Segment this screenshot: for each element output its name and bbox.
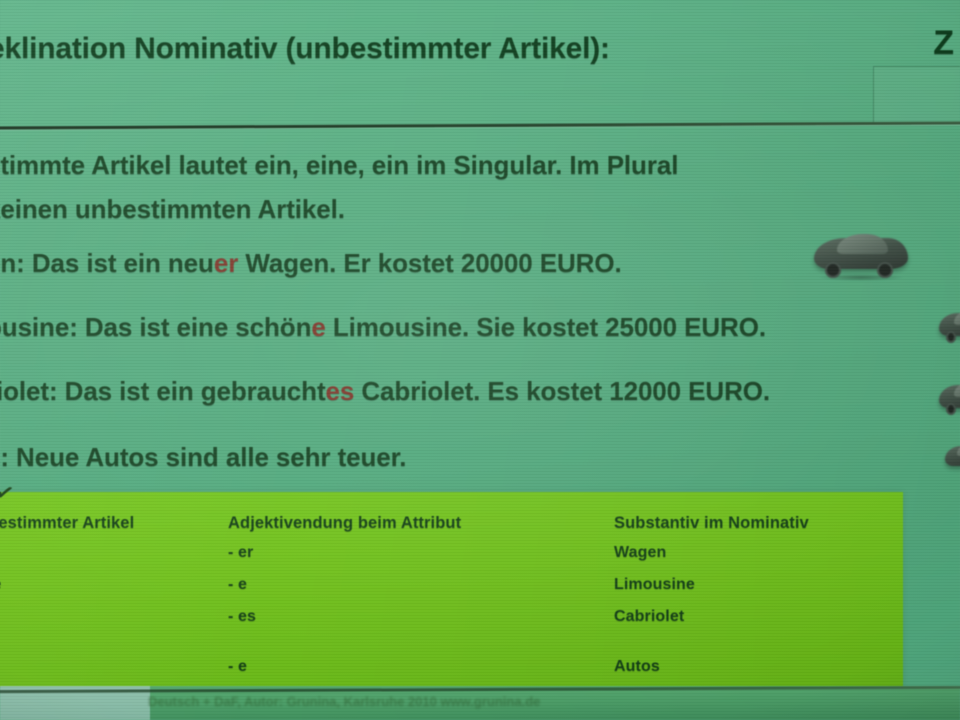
corner-letter-mark: Z bbox=[933, 24, 954, 63]
body-line-5-pre: riolet: Das ist ein gebraucht bbox=[0, 376, 326, 406]
body-line-6: s: Neue Autos sind alle sehr teuer. bbox=[0, 442, 406, 473]
body-line-3-post: Wagen. Er kostet 20000 EURO. bbox=[238, 248, 621, 278]
table-header-article: nbestimmter Artikel bbox=[0, 514, 134, 533]
body-line-1: stimmte Artikel lautet ein, eine, ein im… bbox=[0, 150, 678, 181]
body-line-5-post: Cabriolet. Es kostet 12000 EURO. bbox=[354, 376, 770, 406]
car-photo-limousine bbox=[938, 306, 960, 346]
car-wheel-rear bbox=[877, 262, 894, 278]
car-window bbox=[837, 234, 888, 253]
car-wheel-front bbox=[946, 331, 956, 343]
footer-credit: Deutsch + DaF, Autor: Grunina, Karlsruhe… bbox=[148, 694, 748, 709]
table-row-4-ending: - e bbox=[228, 658, 247, 676]
declension-table: ✓ nbestimmter Artikel Adjektivendung bei… bbox=[0, 492, 903, 687]
table-row-2-ending: - e bbox=[228, 576, 247, 594]
slide-screenshot: eklination Nominativ (unbestimmter Artik… bbox=[0, 0, 960, 720]
body-line-3-pre: en: Das ist ein neu bbox=[0, 248, 214, 278]
table-row-2-noun: Limousine bbox=[614, 576, 695, 594]
check-mark-icon: ✓ bbox=[0, 478, 14, 503]
body-line-4-post: Limousine. Sie kostet 25000 EURO. bbox=[326, 312, 766, 342]
car-photo-autos bbox=[944, 440, 960, 474]
table-row-1-ending: - er bbox=[228, 544, 253, 562]
body-line-2: keinen unbestimmten Artikel. bbox=[0, 194, 345, 225]
body-line-4-highlight: e bbox=[311, 312, 325, 342]
table-row-4-noun: Autos bbox=[614, 658, 660, 676]
body-line-5: riolet: Das ist ein gebrauchtes Cabriole… bbox=[0, 376, 770, 407]
table-row-3-noun: Cabriolet bbox=[614, 608, 684, 626]
body-line-3-highlight: er bbox=[214, 248, 238, 278]
table-header-ending: Adjektivendung beim Attribut bbox=[228, 514, 461, 533]
table-header-noun: Substantiv im Nominativ bbox=[614, 514, 809, 533]
body-line-4: ousine: Das ist eine schöne Limousine. S… bbox=[0, 312, 766, 343]
body-line-3: en: Das ist ein neuer Wagen. Er kostet 2… bbox=[0, 248, 622, 279]
page-title: eklination Nominativ (unbestimmter Artik… bbox=[0, 32, 888, 66]
car-wheel-front bbox=[825, 262, 842, 278]
car-wheel-front bbox=[946, 403, 956, 415]
body-line-5-highlight: es bbox=[326, 376, 355, 406]
table-row-1-noun: Wagen bbox=[614, 544, 666, 562]
corner-frame bbox=[873, 66, 960, 124]
body-line-4-pre: ousine: Das ist eine schön bbox=[0, 312, 311, 342]
table-row-2-article: ine bbox=[0, 576, 1, 594]
table-row-3-ending: - es bbox=[228, 608, 256, 626]
car-photo-cabriolet bbox=[938, 378, 960, 418]
car-photo-wagen bbox=[812, 228, 910, 282]
